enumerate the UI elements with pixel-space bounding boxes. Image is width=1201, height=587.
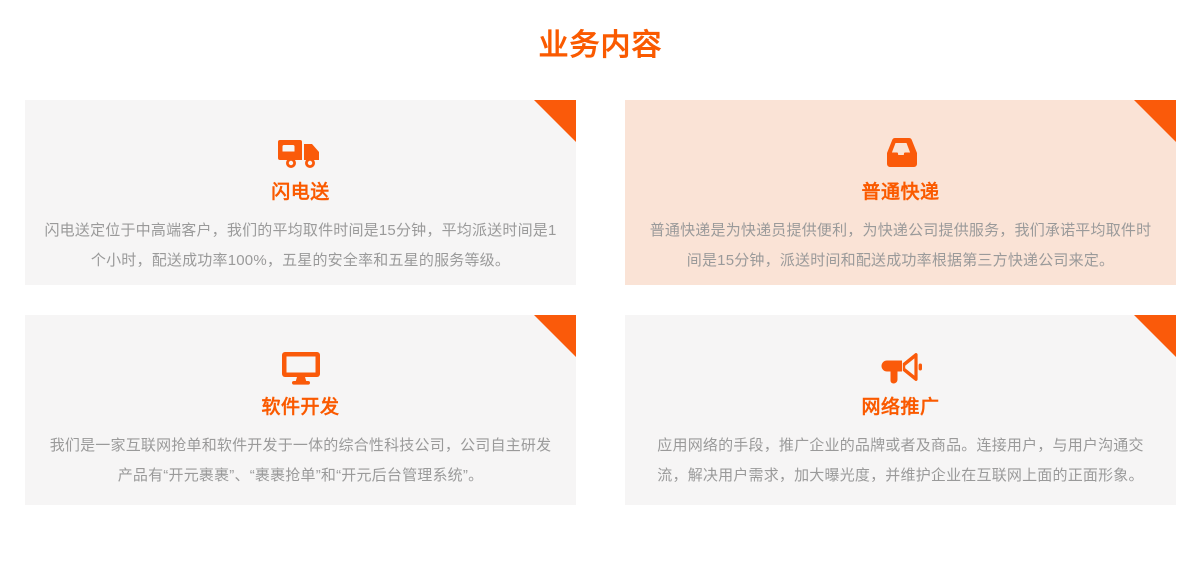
service-card-title: 闪电送 — [43, 180, 558, 206]
service-card-title: 网络推广 — [643, 395, 1158, 421]
corner-ribbon-icon — [534, 315, 576, 357]
service-card-grid: 闪电送 闪电送定位于中高端客户，我们的平均取件时间是15分钟，平均派送时间是1个… — [25, 100, 1176, 505]
corner-ribbon-icon — [1134, 100, 1176, 142]
service-card-standard-express[interactable]: 普通快递 普通快递是为快递员提供便利，为快递公司提供服务，我们承诺平均取件时间是… — [625, 100, 1176, 285]
service-card-description: 应用网络的手段，推广企业的品牌或者及商品。连接用户，与用户沟通交流，解决用户需求… — [643, 431, 1158, 491]
service-card-online-marketing[interactable]: 网络推广 应用网络的手段，推广企业的品牌或者及商品。连接用户，与用户沟通交流，解… — [625, 315, 1176, 505]
business-content-page: 业务内容 闪电送 闪电送定位于中高端客户， — [0, 0, 1201, 587]
service-card-title: 软件开发 — [43, 395, 558, 421]
corner-ribbon-icon — [534, 100, 576, 142]
service-card-description: 闪电送定位于中高端客户，我们的平均取件时间是15分钟，平均派送时间是1个小时，配… — [43, 216, 558, 276]
page-title: 业务内容 — [0, 0, 1201, 66]
service-card-software-development[interactable]: 软件开发 我们是一家互联网抢单和软件开发于一体的综合性科技公司，公司自主研发产品… — [25, 315, 576, 505]
service-card-flash-delivery[interactable]: 闪电送 闪电送定位于中高端客户，我们的平均取件时间是15分钟，平均派送时间是1个… — [25, 100, 576, 285]
inbox-tray-icon — [878, 132, 924, 174]
delivery-truck-icon — [278, 132, 324, 174]
megaphone-icon — [878, 347, 924, 389]
corner-ribbon-icon — [1134, 315, 1176, 357]
service-card-title: 普通快递 — [643, 180, 1158, 206]
service-card-description: 我们是一家互联网抢单和软件开发于一体的综合性科技公司，公司自主研发产品有“开元裹… — [43, 431, 558, 491]
service-card-description: 普通快递是为快递员提供便利，为快递公司提供服务，我们承诺平均取件时间是15分钟，… — [643, 216, 1158, 276]
desktop-monitor-icon — [278, 347, 324, 389]
